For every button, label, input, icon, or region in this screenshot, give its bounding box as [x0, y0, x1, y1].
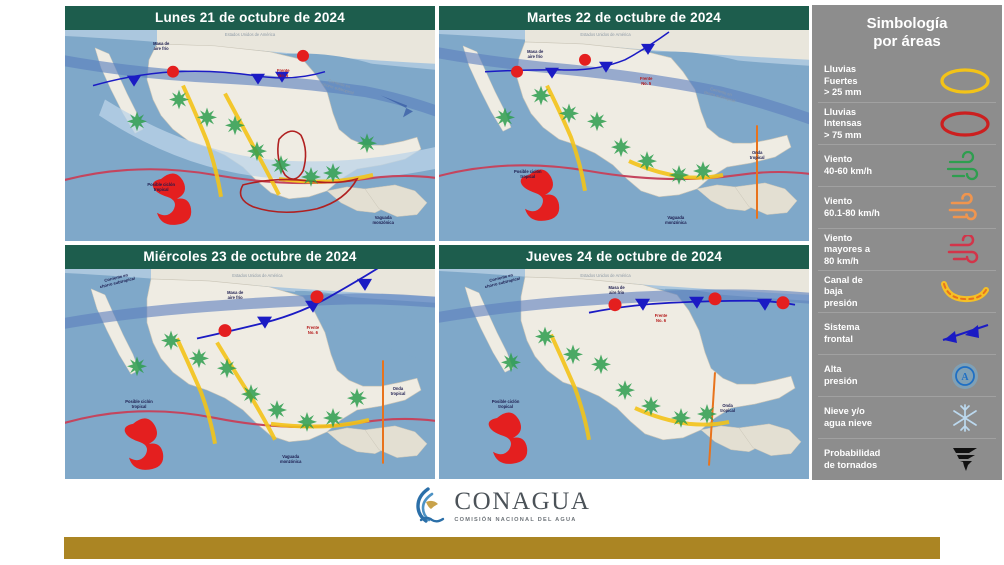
map-monday[interactable]: Masa de aire frío Frente No. 5 Corriente… [65, 30, 435, 241]
legend-item-label: Canal de baja presión [824, 275, 934, 310]
legend-title: Simbología por áreas [812, 5, 1002, 60]
legend-item-label: Viento 40-60 km/h [824, 154, 934, 177]
forecast-panel-thursday[interactable]: Jueves 24 de octubre de 2024 [438, 244, 810, 481]
legend-items-list: Lluvias Fuertes > 25 mm Lluvias Intensas… [812, 60, 1002, 480]
forecast-panel-tuesday[interactable]: Martes 22 de octubre de 2024 [438, 5, 810, 242]
legend-item-label: Alta presión [824, 364, 934, 387]
legend-item-label: Lluvias Fuertes > 25 mm [824, 64, 934, 99]
gold-footer-bar [64, 537, 940, 559]
map-graphic-wednesday [65, 269, 435, 480]
map-wednesday[interactable]: Corriente en chorro subtropical Masa de … [65, 269, 435, 480]
svg-text:A: A [961, 372, 969, 383]
legend-item-viento-mayor-80[interactable]: Viento mayores a 80 km/h [818, 228, 996, 270]
forecast-panel-grid: Lunes 21 de octubre de 2024 [64, 5, 810, 480]
water-wave-eagle-icon [413, 487, 447, 525]
map-graphic-tuesday [439, 30, 809, 241]
logo-subtitle: COMISIÓN NACIONAL DEL AGUA [454, 517, 590, 523]
legend-item-label: Probabilidad de tornados [824, 448, 934, 471]
legend-item-tornados[interactable]: Probabilidad de tornados [818, 438, 996, 480]
map-graphic-monday [65, 30, 435, 241]
legend-item-label: Viento 60.1-80 km/h [824, 196, 934, 219]
legend-item-viento-40-60[interactable]: Viento 40-60 km/h [818, 144, 996, 186]
conagua-logo: CONAGUA COMISIÓN NACIONAL DEL AGUA [0, 484, 1004, 528]
green-wind-icon [934, 149, 996, 183]
panel-title-wednesday: Miércoles 23 de octubre de 2024 [65, 245, 435, 269]
logo-name: CONAGUA [454, 489, 590, 514]
panel-title-monday: Lunes 21 de octubre de 2024 [65, 6, 435, 30]
logo-text-block: CONAGUA COMISIÓN NACIONAL DEL AGUA [454, 489, 590, 523]
panel-title-thursday: Jueves 24 de octubre de 2024 [439, 245, 809, 269]
red-wind-icon [934, 233, 996, 267]
legend-item-label: Nieve y/o agua nieve [824, 406, 934, 429]
orange-wind-icon [934, 191, 996, 225]
legend-item-lluvias-fuertes[interactable]: Lluvias Fuertes > 25 mm [818, 60, 996, 102]
frontal-system-icon [934, 317, 996, 351]
legend-item-sistema-frontal[interactable]: Sistema frontal [818, 312, 996, 354]
legend-item-label: Viento mayores a 80 km/h [824, 233, 934, 268]
tornado-icon [934, 443, 996, 477]
legend-item-lluvias-intensas[interactable]: Lluvias Intensas > 75 mm [818, 102, 996, 144]
legend-item-alta-presion[interactable]: Alta presión A [818, 354, 996, 396]
low-pressure-trough-icon [934, 275, 996, 309]
legend-item-label: Lluvias Intensas > 75 mm [824, 107, 934, 142]
legend-item-label: Sistema frontal [824, 322, 934, 345]
legend-item-canal-baja-presion[interactable]: Canal de baja presión [818, 270, 996, 312]
map-tuesday[interactable]: Masa de aire frío Frente No. 5 Corriente… [439, 30, 809, 241]
map-thursday[interactable]: Corriente en chorro subtropical Masa de … [439, 269, 809, 480]
yellow-oval-icon [934, 64, 996, 98]
panel-title-tuesday: Martes 22 de octubre de 2024 [439, 6, 809, 30]
legend-item-viento-60-80[interactable]: Viento 60.1-80 km/h [818, 186, 996, 228]
forecast-panel-wednesday[interactable]: Miércoles 23 de octubre de 2024 [64, 244, 436, 481]
red-oval-icon [934, 107, 996, 141]
snowflake-icon [934, 401, 996, 435]
infographic-root: Lunes 21 de octubre de 2024 [0, 0, 1004, 565]
high-pressure-icon: A [934, 359, 996, 393]
legend-panel: Simbología por áreas Lluvias Fuertes > 2… [812, 5, 1002, 480]
map-graphic-thursday [439, 269, 809, 480]
forecast-panel-monday[interactable]: Lunes 21 de octubre de 2024 [64, 5, 436, 242]
legend-item-nieve[interactable]: Nieve y/o agua nieve [818, 396, 996, 438]
